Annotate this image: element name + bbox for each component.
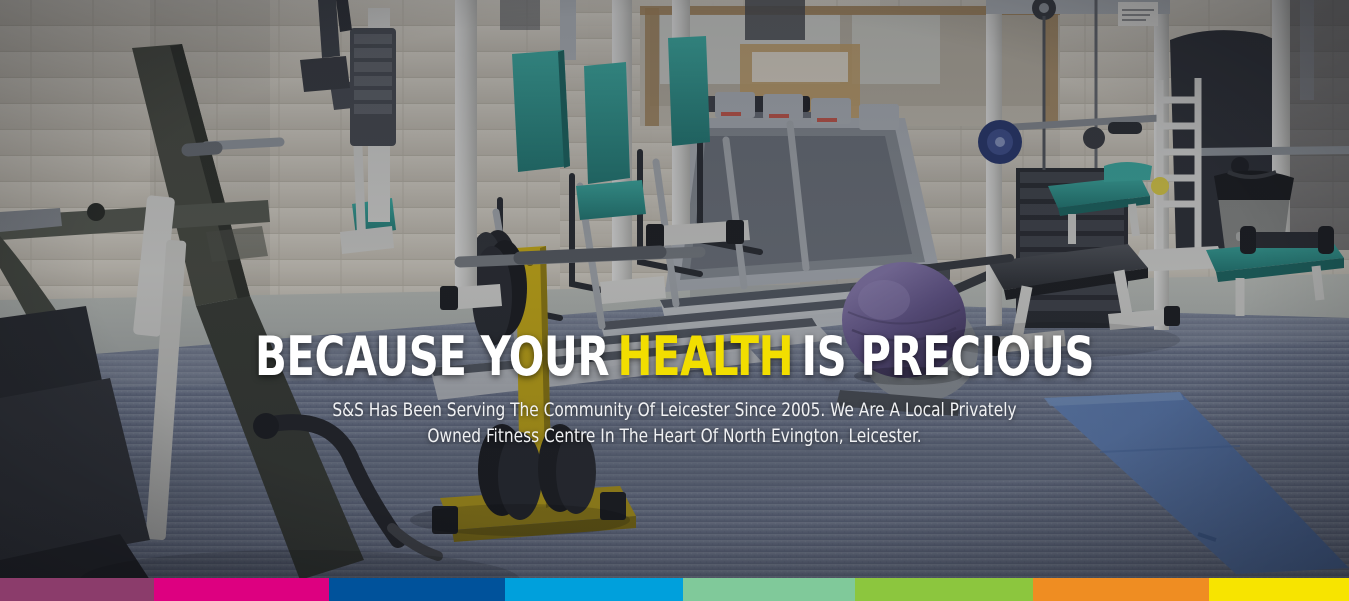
subheadline-line-2: Owned Fitness Centre In The Heart Of Nor… [89,424,1260,450]
gym-background-image [0,0,1349,601]
color-segment-lime-green [855,578,1033,601]
page-title: BECAUSE YOURHEALTHIS PRECIOUS [115,330,1234,384]
color-segment-plum [0,578,154,601]
subheadline-line-1: S&S Has Been Serving The Community Of Le… [89,398,1260,424]
color-segment-yellow [1209,578,1349,601]
color-segment-orange [1033,578,1208,601]
headline-highlight: HEALTH [617,325,793,388]
hero-copy: BECAUSE YOURHEALTHIS PRECIOUS S&S Has Be… [0,330,1349,449]
headline-part-2: IS PRECIOUS [801,325,1093,388]
color-segment-magenta [154,578,329,601]
color-segment-dark-blue [329,578,504,601]
brand-color-strip [0,578,1349,601]
headline-part-1: BECAUSE YOUR [255,325,609,388]
color-segment-mint-green [683,578,856,601]
hero-subheadline: S&S Has Been Serving The Community Of Le… [89,398,1260,449]
hero-banner: BECAUSE YOURHEALTHIS PRECIOUS S&S Has Be… [0,0,1349,601]
color-segment-cyan [505,578,683,601]
